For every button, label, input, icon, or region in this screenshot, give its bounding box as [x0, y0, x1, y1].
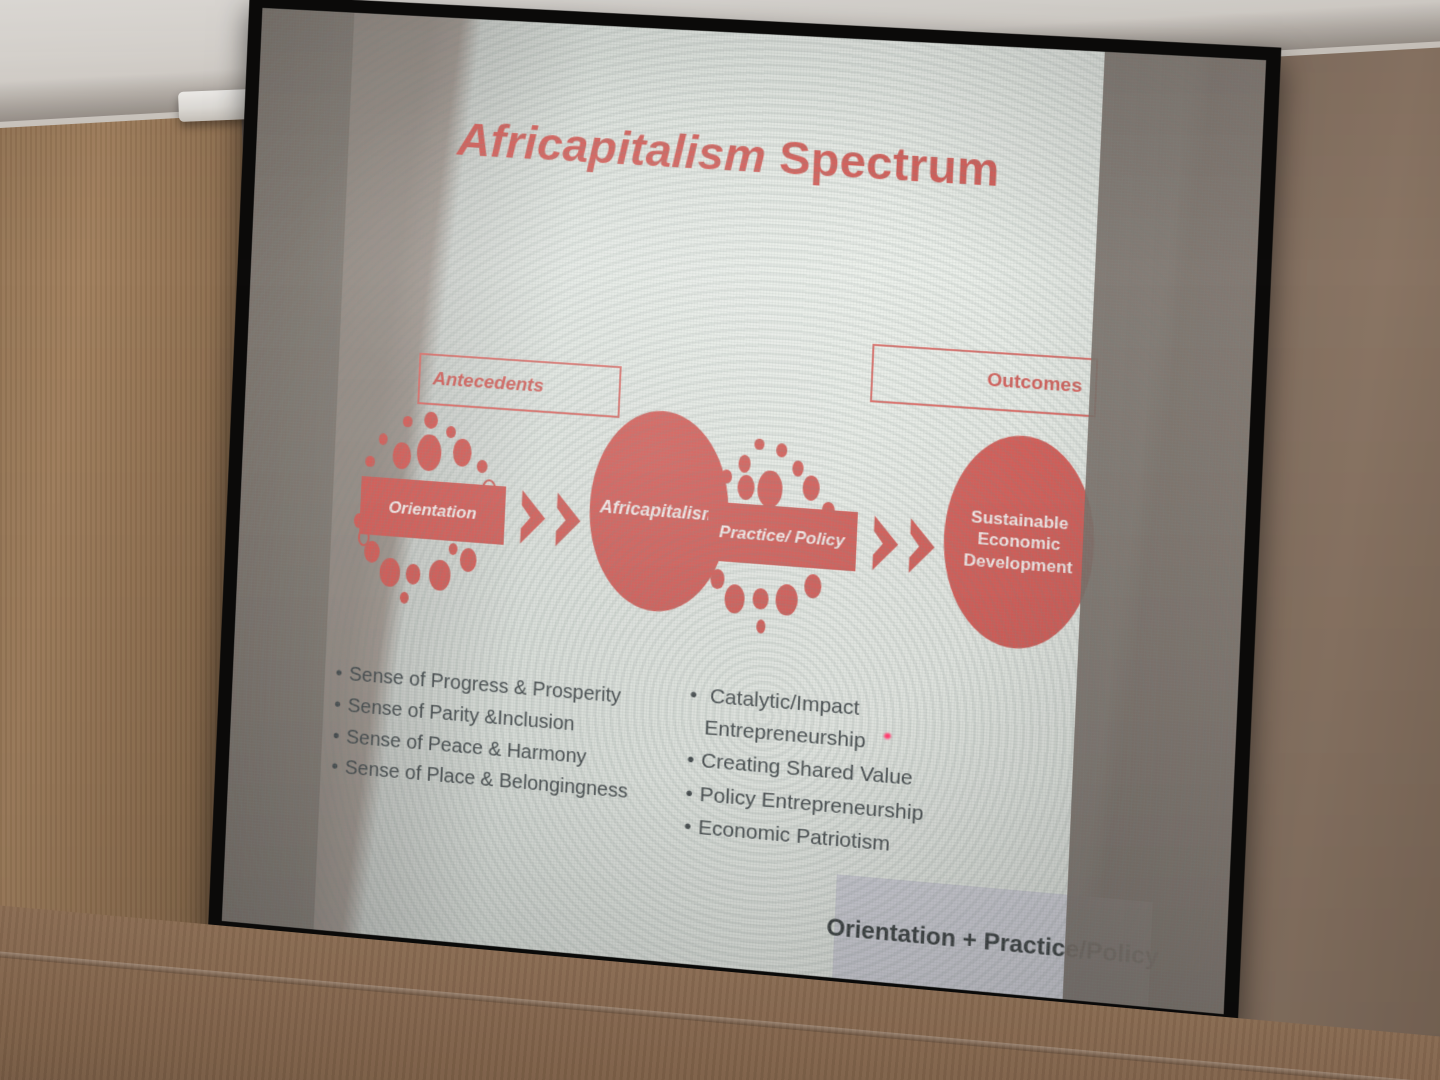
cluster-dot	[403, 415, 412, 427]
chevron-right-icon	[550, 455, 588, 587]
antecedents-list: Sense of Progress & Prosperity Sense of …	[331, 660, 631, 808]
cluster-dot	[405, 563, 421, 585]
flow-stage-practice-policy: Practice/ Policy	[700, 433, 864, 641]
chevron-right-icon	[868, 477, 907, 611]
cluster-dot	[776, 443, 787, 457]
presentation-slide: Africapitalism Spectrum Antecedents Outc…	[313, 13, 1104, 1000]
flow-node-sed-lines: Sustainable Economic Development	[963, 506, 1075, 578]
outcomes-bullet-list: Catalytic/Impact Entrepreneurship Creati…	[683, 679, 994, 871]
flow-stage-orientation: Orientation	[353, 409, 512, 613]
stage-chip-practice-policy: Practice/ Policy	[707, 502, 858, 572]
stage-chip-orientation: Orientation	[359, 476, 506, 545]
cluster-dot	[449, 543, 459, 555]
flow-arrow-2	[868, 477, 943, 614]
cluster-dot	[804, 574, 822, 599]
laser-pointer-dot	[884, 733, 891, 739]
cluster-dot	[476, 459, 487, 473]
chevron-right-icon	[516, 452, 554, 584]
cluster-dot	[802, 475, 820, 502]
cluster-dot	[416, 434, 442, 472]
cluster-dot	[364, 540, 380, 562]
outcomes-list: Catalytic/Impact Entrepreneurship Creati…	[683, 679, 994, 869]
cluster-dot	[453, 438, 472, 466]
cluster-dot	[792, 460, 804, 476]
cluster-dot	[737, 474, 755, 501]
flow-node-africapitalism-label: Africapitalism	[600, 496, 719, 526]
room-photo-scene: Africapitalism Spectrum Antecedents Outc…	[0, 0, 1440, 1080]
cluster-dot	[460, 548, 478, 572]
cluster-dot	[757, 470, 783, 509]
chevron-right-icon	[904, 480, 943, 614]
projection-screen-frame: Africapitalism Spectrum Antecedents Outc…	[208, 0, 1281, 1029]
cluster-dot	[365, 455, 374, 467]
cluster-dot	[378, 433, 387, 445]
cluster-dot	[379, 557, 400, 587]
stage-chip-orientation-label: Orientation	[388, 497, 477, 523]
cluster-dot	[738, 455, 751, 474]
cluster-dot	[400, 591, 409, 603]
cluster-dot	[724, 583, 745, 614]
projection-screen-wrapper: Africapitalism Spectrum Antecedents Outc…	[0, 0, 1440, 1080]
projection-screen-surface: Africapitalism Spectrum Antecedents Outc…	[222, 8, 1266, 1014]
cluster-dot	[424, 411, 438, 429]
cluster-dot	[446, 426, 456, 438]
cluster-dot	[775, 583, 798, 616]
cluster-dot	[756, 619, 766, 633]
cluster-dot	[429, 559, 451, 592]
cluster-dot	[392, 442, 411, 470]
flow-arrow-1	[516, 452, 588, 587]
cluster-dot	[752, 587, 768, 610]
antecedents-bullet-list: Sense of Progress & Prosperity Sense of …	[331, 660, 631, 810]
cluster-dot	[755, 438, 765, 450]
flow-node-sustainable-economic-development: Sustainable Economic Development	[939, 431, 1099, 655]
stage-chip-practice-policy-label: Practice/ Policy	[719, 522, 846, 551]
